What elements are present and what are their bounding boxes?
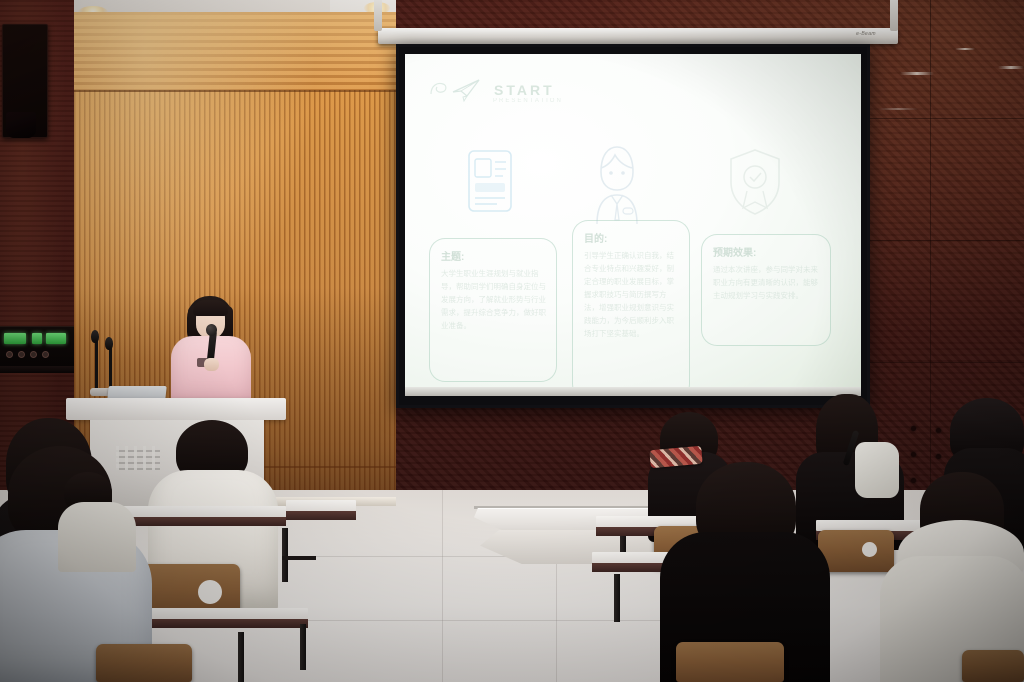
desk-left-front	[142, 608, 308, 632]
handheld-microphone-head	[206, 324, 217, 336]
wall-seam	[930, 0, 931, 512]
lecture-hall-photo: e-Beam START PRESENTATION	[0, 0, 1024, 682]
slide-title: START	[494, 82, 555, 98]
slide-box-body: 通过本次讲座，参与同学对未来职业方向有更清晰的认识，能够主动规划学习与实践安排。	[713, 263, 820, 302]
screen-casing-endcap-left	[374, 0, 382, 31]
desk-leg	[282, 528, 288, 582]
desk-edge	[286, 511, 356, 520]
slide-box-body: 引导学生正确认识自我，结合专业特点和兴趣爱好，制定合理的职业发展目标，掌握求职技…	[584, 249, 679, 340]
wall-light-streak	[955, 48, 975, 50]
person-presenter-icon	[585, 142, 649, 228]
slide-box-outcome: 预期效果: 通过本次讲座，参与同学对未来职业方向有更清晰的认识，能够主动规划学习…	[701, 234, 831, 346]
chair-backrest-hole	[862, 542, 877, 557]
student-top	[58, 502, 136, 572]
microphone-head	[105, 337, 113, 350]
desk-leg	[300, 624, 306, 670]
wall-speaker-bracket	[6, 112, 36, 138]
mixer-led-display	[4, 333, 26, 344]
desk-left-upper	[286, 500, 356, 518]
desk-leg	[614, 574, 620, 622]
mixer-knob[interactable]	[30, 351, 37, 358]
paper-plane-icon	[427, 76, 485, 104]
slide-box-title: 目的:	[584, 230, 679, 245]
document-form-icon	[463, 148, 517, 214]
mixer-knob[interactable]	[18, 351, 25, 358]
chair-backrest	[96, 644, 192, 682]
floor-tile-line	[442, 490, 443, 682]
rack-shelf	[0, 366, 74, 373]
gooseneck-microphone	[95, 340, 98, 390]
wall-perforation	[936, 428, 941, 433]
presenter	[163, 296, 259, 408]
desk-edge	[142, 619, 308, 628]
presenter-bangs	[193, 300, 228, 316]
projector-screen[interactable]: START PRESENTATION	[396, 44, 870, 408]
screen-casing-endcap-right	[890, 0, 898, 31]
wall-perforation	[911, 452, 916, 457]
chair-backrest-hole	[198, 580, 222, 604]
chair-backrest	[676, 642, 784, 682]
presenter-hand	[204, 358, 219, 371]
desk-rail	[282, 556, 316, 560]
mixer-led-display	[32, 333, 42, 344]
microphone-head	[91, 330, 99, 343]
slide-box-title: 主题:	[441, 248, 546, 263]
screen-brand-label: e-Beam	[856, 31, 876, 37]
audio-mixer-rack[interactable]	[0, 326, 74, 371]
wall-wood-seam	[74, 90, 396, 92]
chair-backrest	[962, 650, 1024, 682]
desk-leg	[238, 632, 244, 682]
projector-screen-casing[interactable]: e-Beam	[378, 28, 898, 44]
wall-light-streak	[998, 66, 1024, 69]
desk-top	[142, 608, 308, 619]
slide-box-topic: 主题: 大学生职业生涯规划与就业指导，帮助同学们明确自身定位与发展方向，了解就业…	[429, 238, 557, 382]
wall-light-streak	[878, 108, 918, 110]
wall-perforation	[936, 454, 941, 459]
screen-bottom-bar	[405, 387, 861, 396]
student-left-light-back	[58, 472, 136, 568]
projected-slide: START PRESENTATION	[405, 54, 861, 396]
gooseneck-microphone	[109, 346, 112, 390]
slide-subtitle: PRESENTATION	[493, 98, 563, 104]
wall-perforation	[911, 426, 916, 431]
desk-top	[286, 500, 356, 511]
chair-right-front[interactable]	[676, 642, 784, 682]
wall-light-streak	[900, 72, 934, 75]
shield-badge-icon	[725, 146, 785, 218]
mixer-knob[interactable]	[42, 351, 49, 358]
mixer-led-display	[46, 333, 66, 344]
mixer-knob[interactable]	[6, 351, 13, 358]
lectern-top	[66, 398, 286, 420]
chair-far-right-front[interactable]	[962, 650, 1024, 682]
slide-box-purpose: 目的: 引导学生正确认识自我，结合专业特点和兴趣爱好，制定合理的职业发展目标，掌…	[572, 220, 690, 396]
slide-box-title: 预期效果:	[713, 244, 820, 259]
chair-left-front[interactable]	[96, 644, 192, 682]
floor-tile-line	[556, 560, 557, 682]
slide-box-body: 大学生职业生涯规划与就业指导，帮助同学们明确自身定位与发展方向，了解就业形势与行…	[441, 267, 546, 332]
